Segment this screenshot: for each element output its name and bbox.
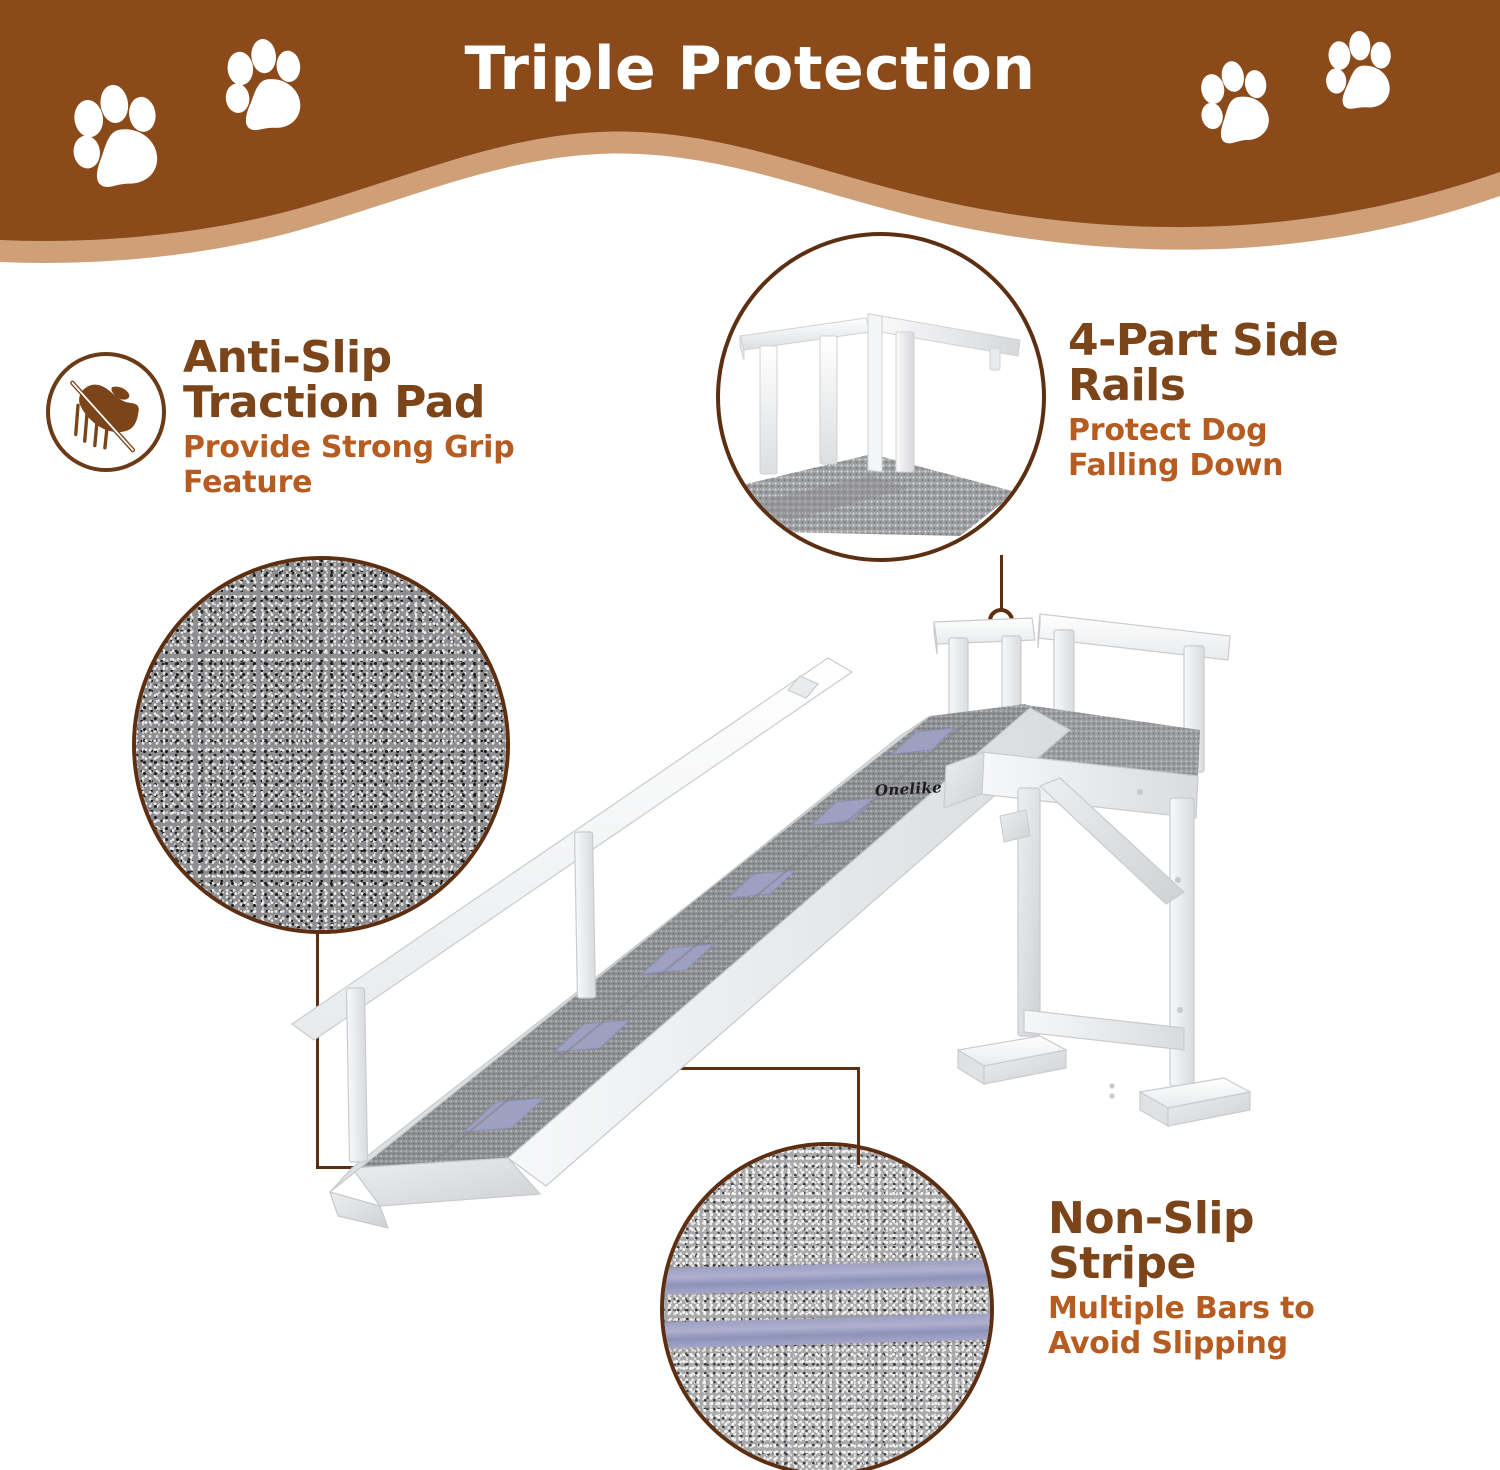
feature-heading: Anti-Slip Traction Pad: [183, 335, 603, 426]
header-banner: Triple Protection: [0, 0, 1500, 270]
callout-side-rails-closeup: [716, 232, 1046, 562]
feature-subtext: Multiple Bars to Avoid Slipping: [1048, 1291, 1468, 1362]
feature-subtext: Provide Strong Grip Feature: [183, 430, 603, 501]
shoe-slip-icon: [46, 352, 166, 472]
feature-four-part-side-rails: 4-Part Side Rails Protect Dog Falling Do…: [1068, 318, 1468, 483]
dog-ramp-illustration: [240, 580, 1280, 1270]
feature-heading: 4-Part Side Rails: [1068, 318, 1468, 409]
product-image-dog-ramp: Onelike: [240, 580, 1280, 1260]
brand-logo: Onelike: [875, 778, 943, 799]
feature-subtext: Protect Dog Falling Down: [1068, 413, 1468, 484]
infographic-canvas: Triple Protection Anti-Slip Traction Pad…: [0, 0, 1500, 1470]
side-rails-closeup-illustration: [720, 236, 1042, 558]
page-title: Triple Protection: [0, 38, 1500, 101]
feature-anti-slip-traction-pad: Anti-Slip Traction Pad Provide Strong Gr…: [183, 335, 603, 500]
